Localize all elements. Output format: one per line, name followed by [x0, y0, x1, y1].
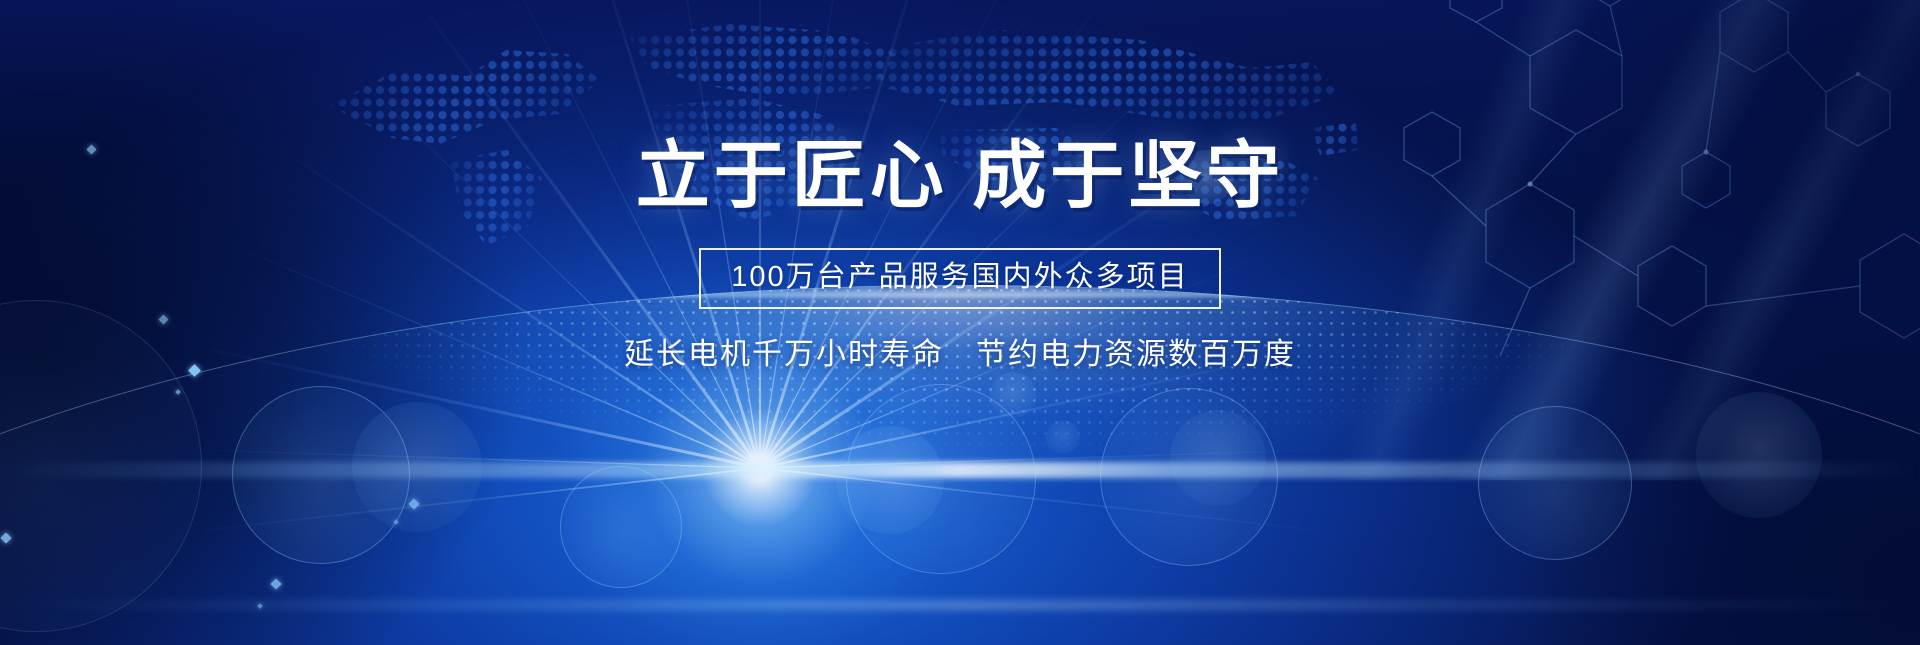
- page-title: 立于匠心 成于坚守: [0, 0, 1920, 216]
- banner-content: 立于匠心 成于坚守 100万台产品服务国内外众多项目 延长电机千万小时寿命 节约…: [0, 0, 1920, 374]
- banner-stage: 立于匠心 成于坚守 100万台产品服务国内外众多项目 延长电机千万小时寿命 节约…: [0, 0, 1920, 645]
- tagline: 延长电机千万小时寿命 节约电力资源数百万度: [0, 335, 1920, 374]
- horizontal-lens-flare-secondary: [0, 600, 1920, 610]
- highlight-badge: 100万台产品服务国内外众多项目: [699, 248, 1220, 309]
